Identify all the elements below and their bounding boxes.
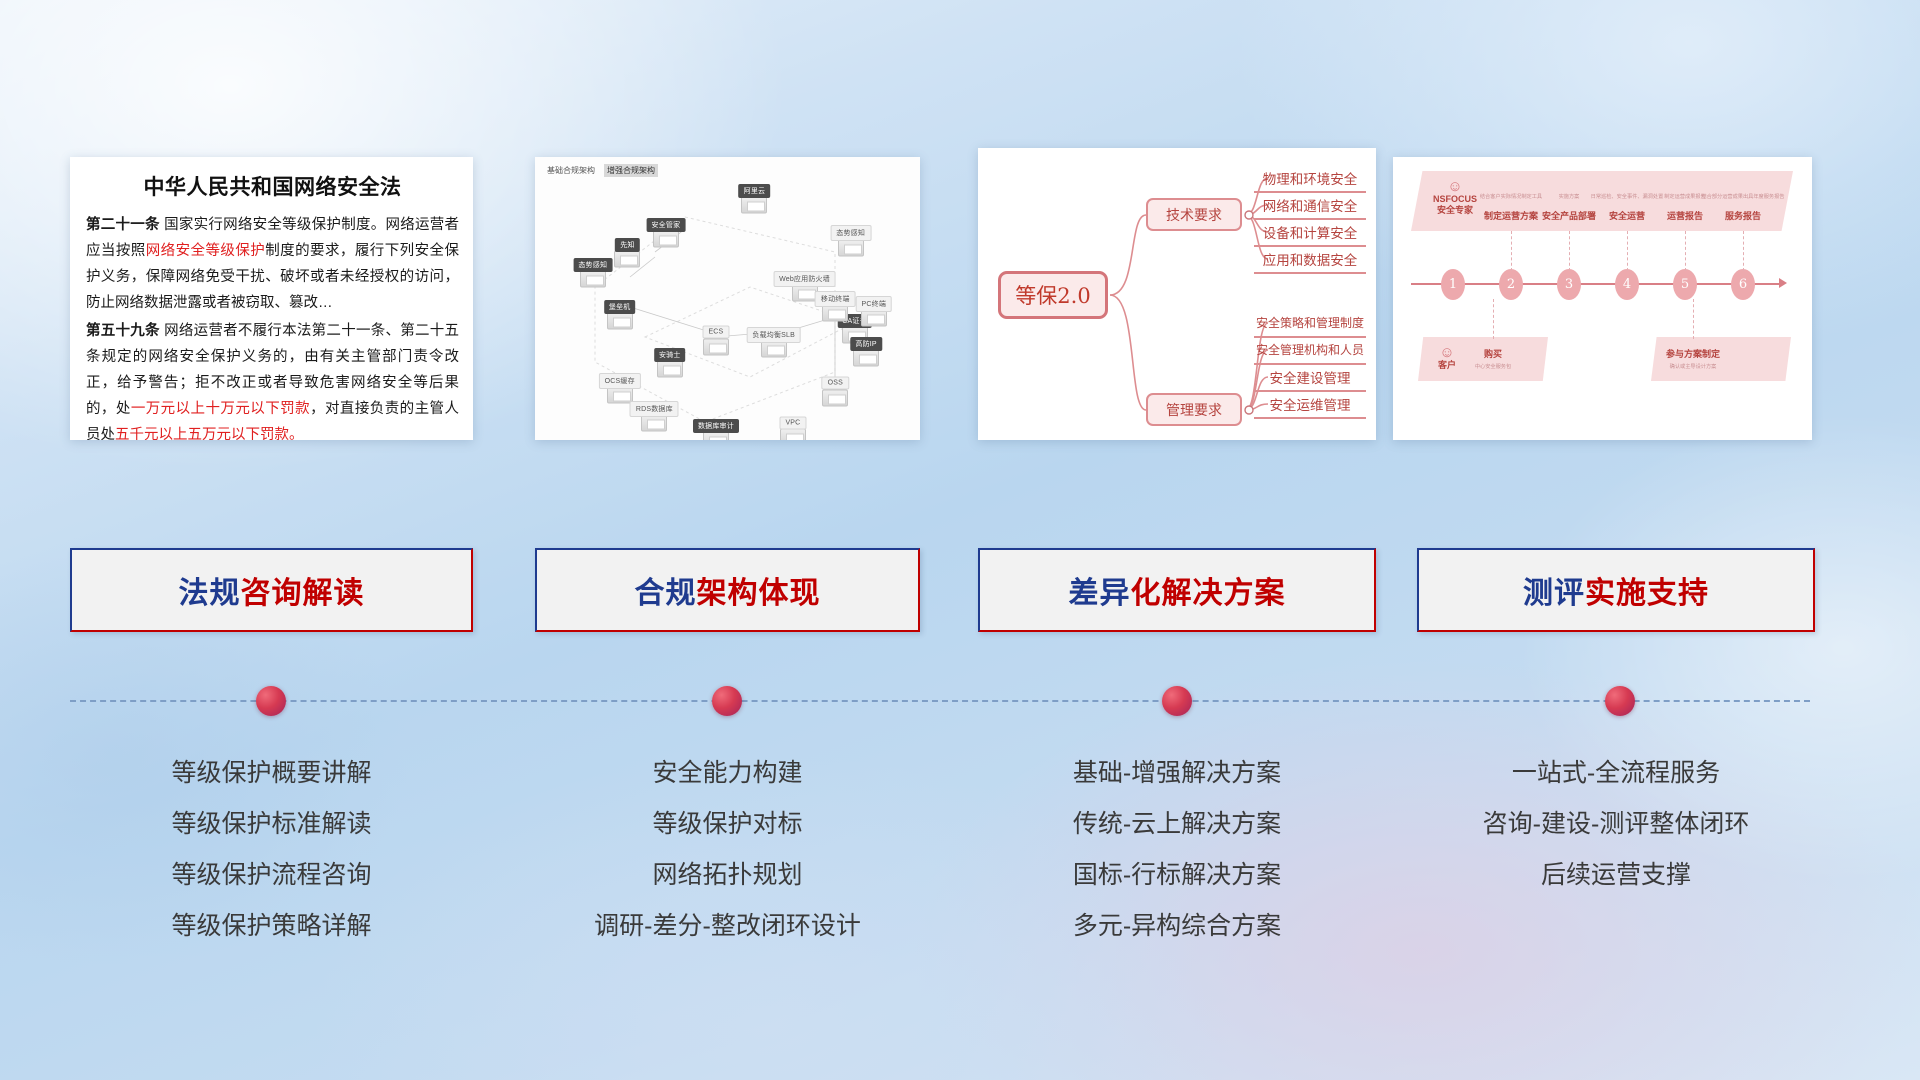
- list-item: 一站式-全流程服务: [1417, 748, 1815, 799]
- expert-brand: NSFOCUS: [1427, 194, 1483, 205]
- timeline-step-label: 安全产品部署: [1542, 209, 1596, 222]
- arch-node-label: OSS: [822, 377, 849, 390]
- arch-node-icon: [641, 415, 667, 432]
- timeline-step-dot[interactable]: 2: [1499, 269, 1523, 300]
- milestone-dot-2[interactable]: [712, 686, 742, 716]
- title-4-blue: 测评: [1523, 577, 1585, 610]
- arch-node-label: ECS: [702, 326, 729, 339]
- list-item: 等级保护标准解读: [70, 799, 473, 850]
- mindmap-leaf: 物理和环境安全: [1254, 164, 1366, 193]
- card-nsfocus-service-timeline: ☺ NSFOCUS 安全专家 ☺ 客户 12制定运营方案结合客户实际情况制定工具…: [1393, 157, 1812, 440]
- list-item: 咨询-建设-测评整体闭环: [1417, 799, 1815, 850]
- mindmap-leaf: 安全运维管理: [1254, 390, 1366, 419]
- timeline-tick: [1627, 231, 1628, 271]
- title-box-3[interactable]: 差异化解决方案: [978, 548, 1376, 632]
- milestone-dot-3[interactable]: [1162, 686, 1192, 716]
- title-1-red: 咨询解读: [241, 577, 365, 610]
- arch-node-icon: [853, 349, 879, 366]
- timeline-step-dot[interactable]: 4: [1615, 269, 1639, 300]
- timeline-customer-step-sublabel: 确认或主导设计方案: [1670, 363, 1717, 370]
- feature-list-3: 基础-增强解决方案传统-云上解决方案国标-行标解决方案多元-异构综合方案: [978, 748, 1376, 952]
- mindmap-leaf: 应用和数据安全: [1254, 245, 1366, 274]
- arch-node-label: 安骑士: [654, 348, 686, 362]
- title-text-1: 法规咨询解读: [179, 568, 365, 612]
- article-59-highlight-1: 一万元以上十万元以下罚款: [131, 401, 310, 417]
- arch-node-label: PC终端: [856, 296, 893, 312]
- arch-node-label: RDS数据库: [630, 401, 679, 417]
- arch-node-icon: [614, 250, 640, 267]
- arch-node-icon: [822, 389, 848, 406]
- list-item: 传统-云上解决方案: [978, 799, 1376, 850]
- timeline-tick: [1743, 231, 1744, 271]
- timeline-step-dot[interactable]: 5: [1673, 269, 1697, 300]
- list-item: 等级保护策略详解: [70, 901, 473, 952]
- timeline-step-sublabel: 日常巡检、安全事件、漏洞处置: [1591, 193, 1664, 200]
- title-text-4: 测评实施支持: [1523, 568, 1709, 612]
- law-title: 中华人民共和国网络安全法: [86, 171, 459, 201]
- mindmap-root: 等保2.0: [998, 271, 1108, 319]
- arch-node-icon: [703, 338, 729, 355]
- timeline-step-label: 运营报告: [1667, 209, 1703, 222]
- arch-node-label: 态势感知: [830, 225, 871, 241]
- mindmap-leaf: 安全策略和管理制度: [1254, 309, 1366, 338]
- timeline-step-sublabel: 结合客户实际情况制定工具: [1480, 193, 1542, 200]
- title-2-red: 架构体现: [697, 577, 821, 610]
- card-compliance-architecture: 基础合规架构 增强合规架构 阿里云安全管家先知态势感知堡垒机安骑士ECSOCS缓…: [535, 157, 920, 440]
- mindmap-leaf: 安全建设管理: [1254, 363, 1366, 392]
- list-item: 后续运营支撑: [1417, 850, 1815, 901]
- milestone-dot-4[interactable]: [1605, 686, 1635, 716]
- timeline-step-dot[interactable]: 6: [1731, 269, 1755, 300]
- arch-node-icon: [792, 284, 818, 301]
- timeline-customer-step-sublabel: 中心安全服务包: [1475, 363, 1511, 370]
- arch-node-icon: [657, 361, 683, 378]
- timeline-dashed-line: [70, 700, 1810, 702]
- arch-node-icon: [822, 304, 848, 321]
- title-3-blue: 差异: [1069, 577, 1131, 610]
- arch-node-label: 阿里云: [739, 184, 771, 198]
- arch-node-icon: [607, 313, 633, 330]
- timeline-tick: [1685, 231, 1686, 271]
- customer-role: 客户: [1425, 360, 1469, 371]
- title-2-blue: 合规: [635, 577, 697, 610]
- article-21-label: 第二十一条: [86, 217, 160, 233]
- expert-person-icon: ☺: [1427, 179, 1483, 194]
- arch-node-label: Web应用防火墙: [773, 271, 836, 287]
- title-text-3: 差异化解决方案: [1069, 568, 1286, 612]
- mindmap-leaf: 设备和计算安全: [1254, 218, 1366, 247]
- arch-node-icon: [741, 197, 767, 214]
- law-article-59: 第五十九条 网络运营者不履行本法第二十一条、第二十五条规定的网络安全保护义务的，…: [86, 318, 459, 440]
- timeline-step-label: 服务报告: [1725, 209, 1761, 222]
- list-item: 等级保护流程咨询: [70, 850, 473, 901]
- timeline-tick: [1569, 231, 1570, 271]
- list-item: 安全能力构建: [535, 748, 920, 799]
- list-item: 多元-异构综合方案: [978, 901, 1376, 952]
- title-1-blue: 法规: [179, 577, 241, 610]
- timeline-expert-label: ☺ NSFOCUS 安全专家: [1427, 179, 1483, 216]
- list-item: 等级保护对标: [535, 799, 920, 850]
- feature-list-2: 安全能力构建等级保护对标网络拓扑规划调研-差分-整改闭环设计: [535, 748, 920, 952]
- timeline-step-sublabel: 实施方案: [1559, 193, 1580, 200]
- expert-role: 安全专家: [1427, 205, 1483, 216]
- timeline-step-label: 制定运营方案: [1484, 209, 1538, 222]
- mindmap-branch-technical: 技术要求: [1146, 198, 1242, 231]
- article-59-highlight-2: 五千元以上五万元以下罚款。: [115, 427, 304, 440]
- feature-list-4: 一站式-全流程服务咨询-建设-测评整体闭环后续运营支撑: [1417, 748, 1815, 901]
- law-article-21: 第二十一条 国家实行网络安全等级保护制度。网络运营者应当按照网络安全等级保护制度…: [86, 212, 459, 316]
- arch-node-label: 数据库审计: [693, 419, 739, 433]
- title-box-1[interactable]: 法规咨询解读: [70, 548, 473, 632]
- card-mindmap-dengbao: 等保2.0 技术要求 管理要求 物理和环境安全网络和通信安全设备和计算安全应用和…: [978, 148, 1376, 440]
- milestone-dot-1[interactable]: [256, 686, 286, 716]
- list-item: 等级保护概要讲解: [70, 748, 473, 799]
- timeline-customer-step-label: 购买: [1484, 347, 1502, 360]
- timeline-customer-tick: [1693, 299, 1694, 339]
- arch-node-label: 先知: [615, 238, 639, 252]
- arch-node-icon: [761, 341, 787, 358]
- feature-list-1: 等级保护概要讲解等级保护标准解读等级保护流程咨询等级保护策略详解: [70, 748, 473, 952]
- arch-node-label: VPC: [779, 417, 806, 430]
- card-cybersecurity-law: 中华人民共和国网络安全法 第二十一条 国家实行网络安全等级保护制度。网络运营者应…: [70, 157, 473, 440]
- arch-node-label: 移动终端: [815, 291, 856, 307]
- arch-node-label: 高防IP: [850, 337, 881, 351]
- arch-node-icon: [580, 270, 606, 287]
- mindmap-branch-management: 管理要求: [1146, 393, 1242, 426]
- arch-node-icon: [607, 386, 633, 403]
- list-item: 调研-差分-整改闭环设计: [535, 901, 920, 952]
- list-item: 基础-增强解决方案: [978, 748, 1376, 799]
- timeline-axis: [1411, 283, 1779, 285]
- timeline-customer-tick: [1493, 299, 1494, 339]
- timeline-step-sublabel: 结合部分运营成果出具年度服务报告: [1701, 193, 1784, 200]
- article-21-highlight: 网络安全等级保护: [146, 243, 266, 259]
- arch-node-icon: [780, 429, 806, 440]
- timeline-arrow-icon: [1779, 278, 1787, 288]
- timeline-step-sublabel: 制定运营成果报告: [1664, 193, 1706, 200]
- title-3-red: 化解决方案: [1131, 577, 1286, 610]
- title-text-2: 合规架构体现: [635, 568, 821, 612]
- arch-node-icon: [838, 239, 864, 256]
- mindmap-leaf: 安全管理机构和人员: [1254, 336, 1366, 365]
- title-box-4[interactable]: 测评实施支持: [1417, 548, 1815, 632]
- title-4-red: 实施支持: [1585, 577, 1709, 610]
- title-box-2[interactable]: 合规架构体现: [535, 548, 920, 632]
- mindmap-leaf: 网络和通信安全: [1254, 191, 1366, 220]
- arch-node-label: 安全管家: [646, 218, 685, 232]
- arch-node-icon: [653, 231, 679, 248]
- arch-node-label: 负载均衡SLB: [746, 327, 801, 343]
- list-item: 国标-行标解决方案: [978, 850, 1376, 901]
- list-item: 网络拓扑规划: [535, 850, 920, 901]
- arch-node-label: 堡垒机: [604, 300, 636, 314]
- timeline-step-label: 安全运营: [1609, 209, 1645, 222]
- arch-node-label: 态势感知: [573, 258, 612, 272]
- article-59-label: 第五十九条: [86, 323, 160, 339]
- customer-person-icon: ☺: [1425, 345, 1469, 360]
- arch-node-label: OCS缓存: [599, 373, 641, 389]
- timeline-tick: [1511, 231, 1512, 271]
- timeline-customer-step-label: 参与方案制定: [1666, 347, 1720, 360]
- arch-node-icon: [861, 310, 887, 327]
- timeline-step-dot[interactable]: 3: [1557, 269, 1581, 300]
- timeline-customer-label: ☺ 客户: [1425, 345, 1469, 371]
- timeline-step-dot[interactable]: 1: [1441, 269, 1465, 300]
